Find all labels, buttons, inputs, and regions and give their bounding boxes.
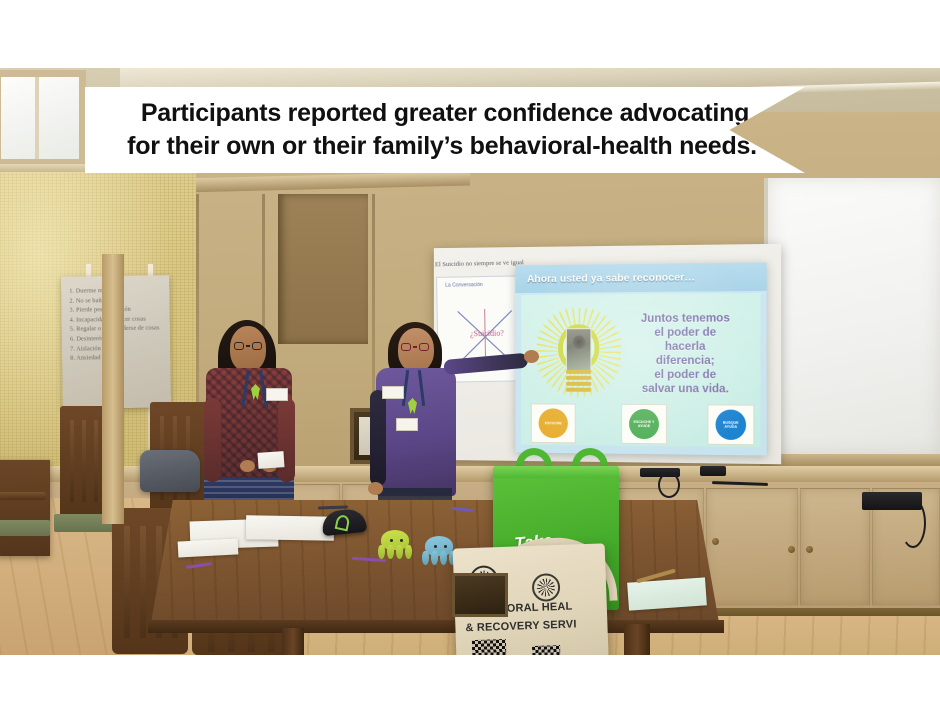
projected-slide: Ahora usted ya sabe reconocer… Juntos te… — [515, 262, 766, 455]
bag-on-chair — [140, 450, 200, 492]
headline-banner: Participants reported greater confidence… — [85, 87, 805, 173]
qr-code[interactable] — [532, 645, 561, 655]
plush-legs — [422, 551, 456, 566]
plush-eye — [390, 539, 393, 542]
slide-body-line: diferencia; — [617, 354, 754, 368]
hand-left — [240, 460, 255, 472]
handheld-notes — [257, 451, 284, 469]
paper-scrawl-text: ¿Suicidio? — [470, 329, 504, 339]
name-badge — [396, 418, 418, 431]
plush-eye — [444, 545, 447, 548]
slide-body-line: salvar una vida. — [617, 382, 754, 397]
eyeglasses-icon — [401, 343, 429, 351]
window — [0, 70, 86, 166]
octopus-plush-blue[interactable] — [422, 536, 456, 566]
campaign-badge: ESCUCHE Y AYUDE — [621, 404, 667, 444]
arm-left — [370, 390, 386, 486]
framed-picture-small — [452, 573, 508, 617]
badge-label: BUSQUE AYUDA — [716, 409, 747, 440]
chair-arm — [0, 492, 46, 500]
eyeglasses-icon — [234, 342, 262, 350]
hand-pointing — [524, 350, 539, 363]
plush-eye — [400, 539, 403, 542]
plush-legs — [378, 545, 412, 560]
octopus-plush-green[interactable] — [378, 530, 412, 560]
arm-right — [278, 398, 295, 482]
slide-body-text: Juntos tenemos el poder de hacerla difer… — [617, 311, 754, 396]
handout-paper[interactable] — [178, 538, 239, 557]
headline-line-2: for their own or their family’s behavior… — [127, 130, 757, 163]
table-leg — [624, 624, 650, 655]
tote-line-3: & RECOVERY SERVI — [465, 618, 577, 634]
campaign-badge: BUSQUE AYUDA — [707, 404, 754, 445]
chair-slat — [140, 526, 146, 638]
wall-niche — [278, 194, 368, 344]
whiteboard — [764, 178, 940, 456]
qr-code[interactable] — [472, 639, 507, 655]
window-mullion — [35, 77, 39, 159]
slide-body-line: Juntos tenemos — [617, 311, 754, 326]
cabinet-knob[interactable] — [788, 546, 795, 553]
slide-header-text: Ahora usted ya sabe reconocer… — [527, 271, 695, 285]
chair-slat — [94, 420, 98, 502]
slide-body-line: el poder de — [617, 326, 754, 341]
hand-left — [368, 482, 383, 495]
cabinet-knob[interactable] — [806, 546, 813, 553]
cable-loop — [658, 472, 680, 498]
lightbulb-icon — [537, 308, 621, 412]
tree-logo-icon — [532, 573, 561, 602]
chair-slat — [82, 420, 86, 502]
plush-eye — [434, 545, 437, 548]
badge-label: ESCUCHE — [539, 408, 568, 438]
window-pane — [1, 77, 79, 159]
chair-slat — [70, 420, 74, 502]
arm-left — [204, 398, 221, 482]
name-badge — [382, 386, 404, 399]
whiteboard-ledge — [760, 454, 940, 466]
table-leg — [282, 628, 304, 655]
headline-line-1: Participants reported greater confidence… — [141, 97, 749, 130]
slide-header-bar: Ahora usted ya sabe reconocer… — [515, 262, 766, 293]
badge-label: ESCUCHE Y AYUDE — [629, 409, 659, 439]
av-device — [700, 466, 726, 476]
cabinet-knob[interactable] — [712, 538, 719, 545]
lightbulb-inner-photo — [566, 328, 592, 372]
handout-paper[interactable] — [246, 515, 334, 541]
slide-canvas: 1. Duerme mucho 2. No se baña 3. Pierde … — [0, 0, 940, 726]
slide-body: Juntos tenemos el poder de hacerla difer… — [521, 293, 760, 447]
lightbulb-base-icon — [566, 368, 592, 398]
whiteboard-eraser — [862, 492, 922, 510]
cabinet-door[interactable] — [706, 488, 798, 606]
armchair[interactable] — [0, 460, 50, 556]
chair-seat — [0, 520, 50, 536]
campaign-badge: ESCUCHE — [531, 403, 576, 443]
easel-post — [102, 254, 124, 524]
chair-slat — [124, 526, 130, 638]
slide-body-line: el poder de — [617, 368, 754, 382]
slide-body-line: hacerla — [617, 340, 754, 354]
name-badge — [266, 388, 288, 401]
slide-campaign-badges: ESCUCHE ESCUCHE Y AYUDE BUSQUE AYUDA — [529, 399, 761, 445]
